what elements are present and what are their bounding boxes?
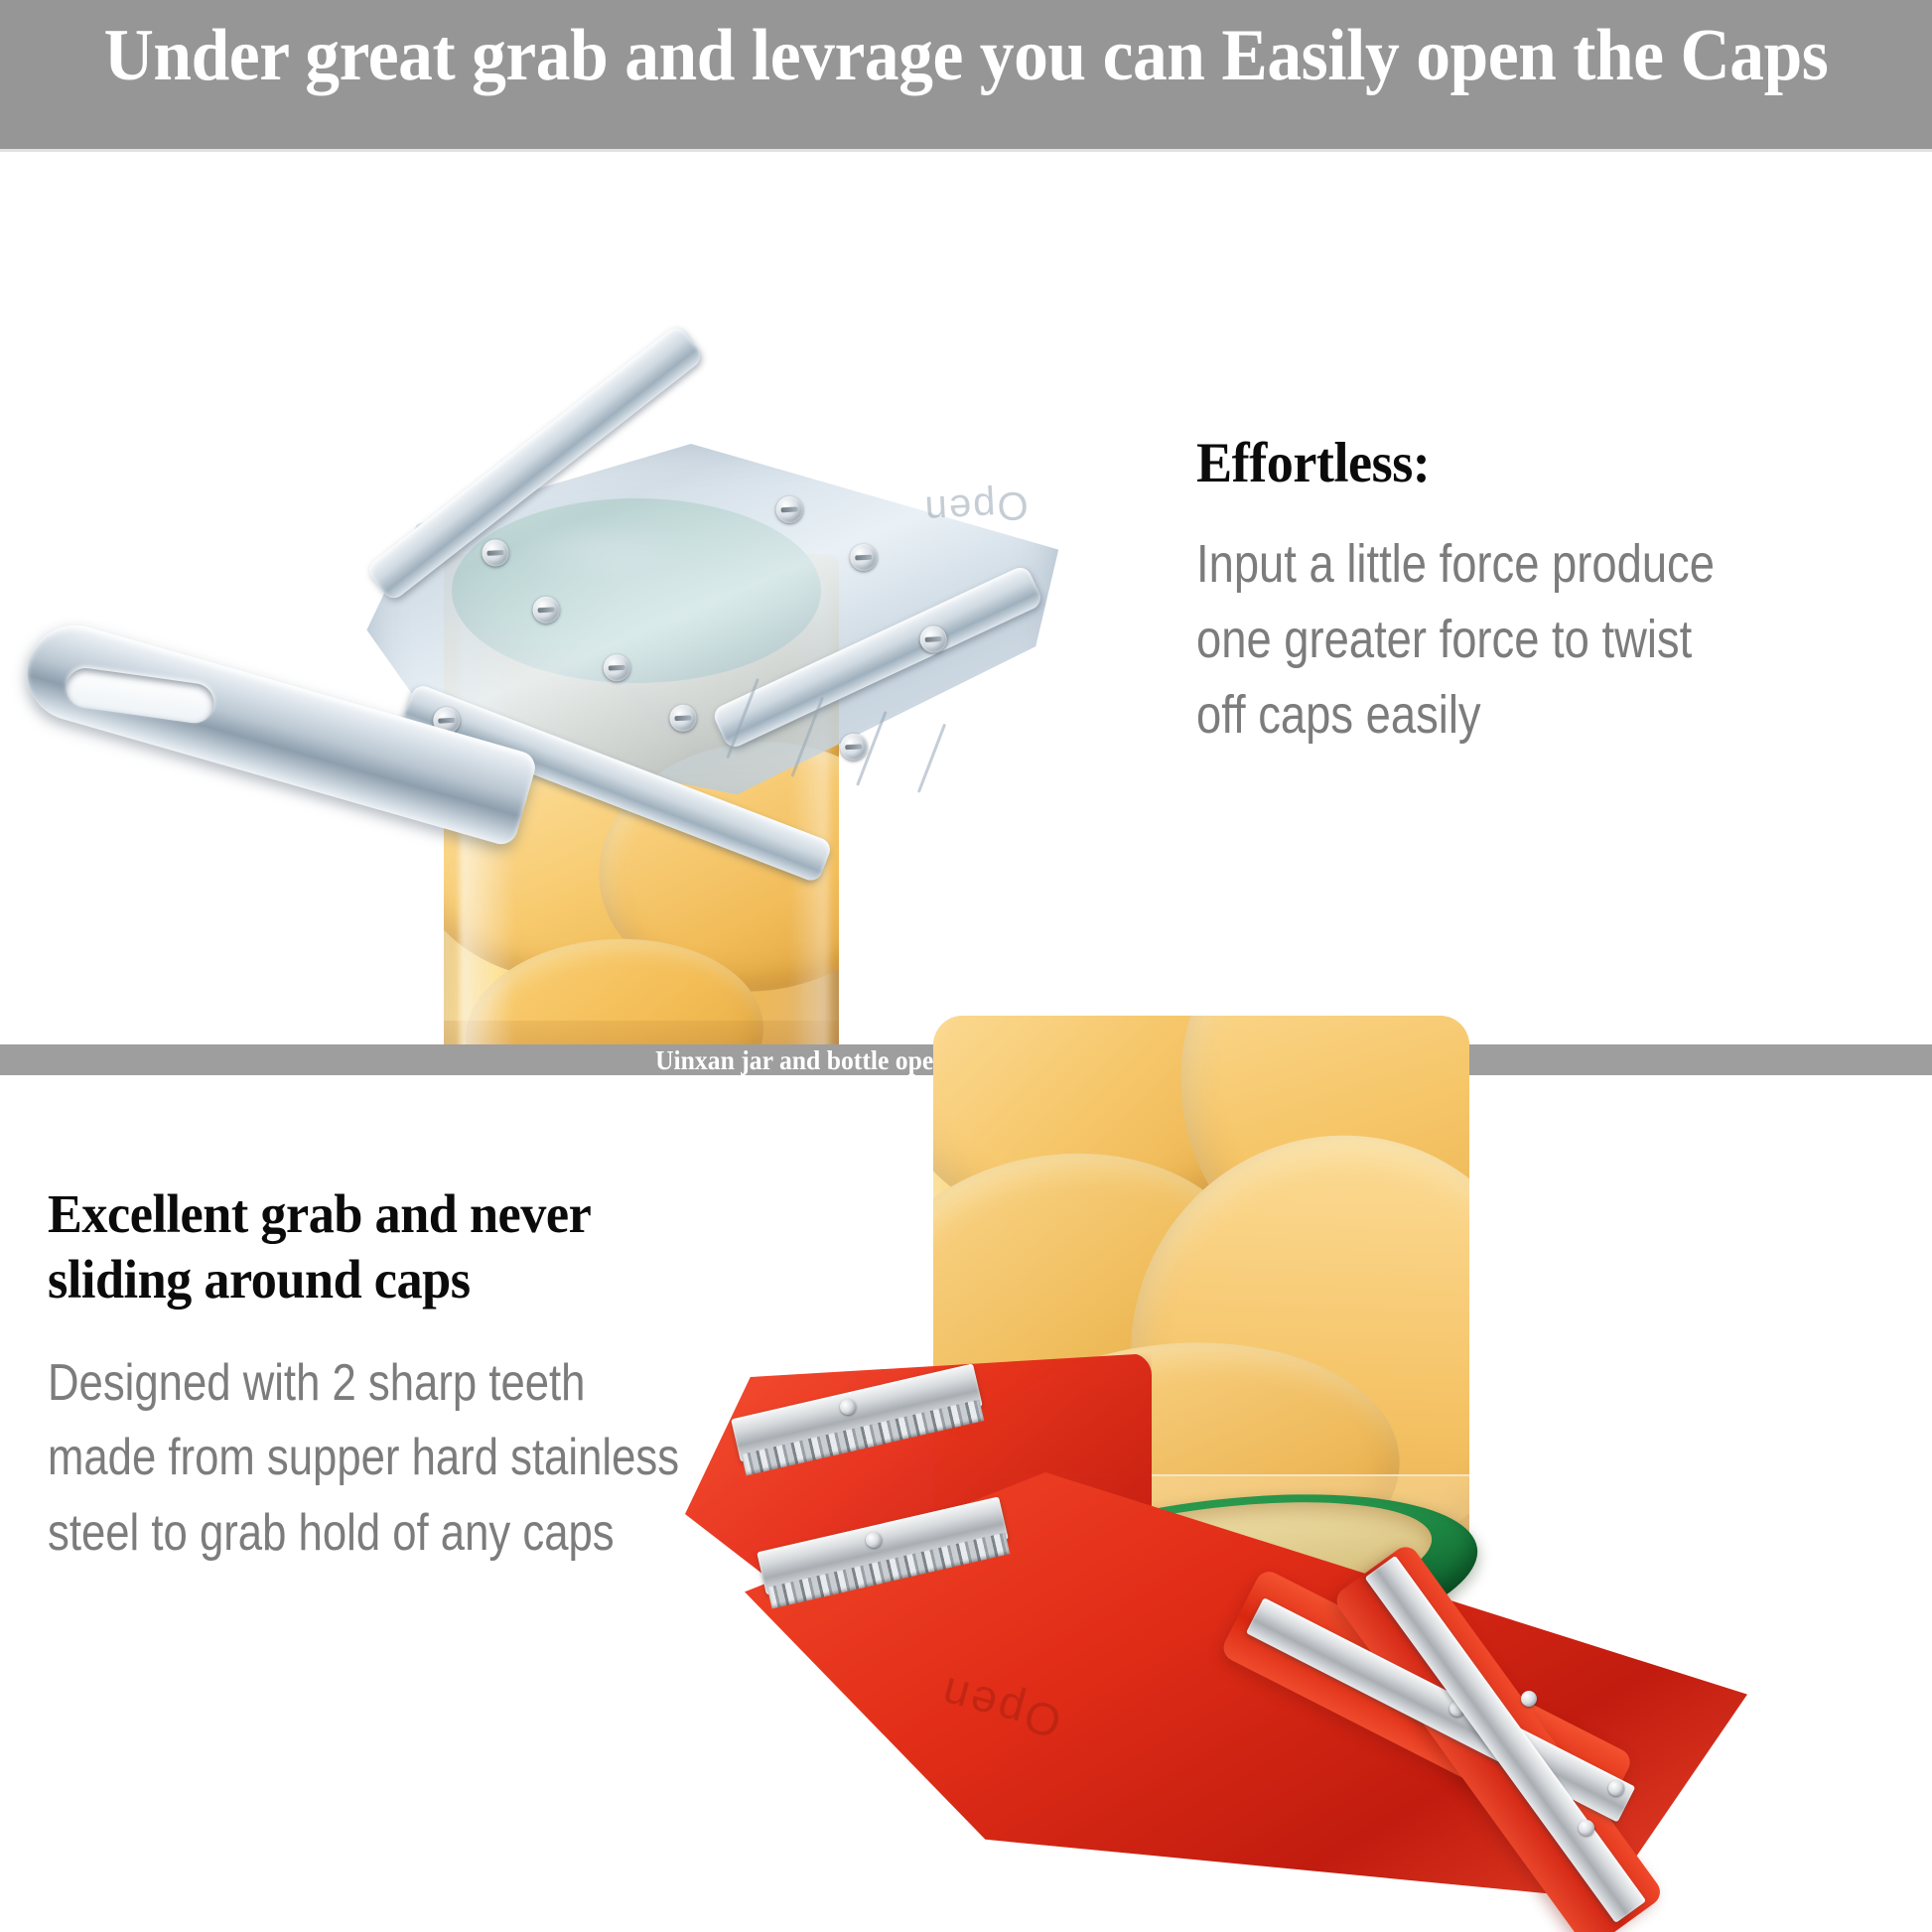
screw-icon	[840, 733, 868, 760]
feature-body-line: steel to grab hold of any caps	[48, 1496, 781, 1571]
feature-body-line: Input a little force produce	[1196, 527, 1797, 603]
feature-block-effortless: Effortless: Input a little force produce…	[1196, 430, 1911, 753]
feature-heading-line: sliding around caps	[48, 1247, 878, 1312]
feature-body: Input a little force produce one greater…	[1196, 527, 1797, 753]
feature-body: Designed with 2 sharp teeth made from su…	[48, 1346, 781, 1571]
rivet-icon	[1521, 1691, 1537, 1707]
feature-heading-line: Excellent grab and never	[48, 1181, 878, 1247]
silver-opener-photo: Open	[0, 304, 1152, 1044]
opener-rib	[917, 724, 946, 793]
feature-body-line: made from supper hard stainless	[48, 1421, 781, 1495]
product-infographic: Under great grab and levrage you can Eas…	[0, 0, 1932, 1932]
header-banner: Under great grab and levrage you can Eas…	[0, 0, 1932, 152]
feature-heading: Excellent grab and never sliding around …	[48, 1181, 878, 1312]
rivet-icon	[1579, 1820, 1594, 1836]
feature-heading: Effortless:	[1196, 430, 1875, 497]
top-photo-panel: Open Effortless: Input a little force pr…	[0, 152, 1932, 1044]
feature-block-grab: Excellent grab and never sliding around …	[48, 1181, 921, 1571]
page-title: Under great grab and levrage you can Eas…	[58, 14, 1873, 98]
feature-body-line: one greater force to twist	[1196, 603, 1797, 678]
brand-caption: Uinxan jar and bottle opener	[655, 1045, 970, 1076]
rivet-icon	[1608, 1780, 1624, 1796]
opener-open-label: Open	[922, 482, 1030, 531]
feature-body-line: off caps easily	[1196, 678, 1797, 754]
feature-body-line: Designed with 2 sharp teeth	[48, 1346, 781, 1421]
